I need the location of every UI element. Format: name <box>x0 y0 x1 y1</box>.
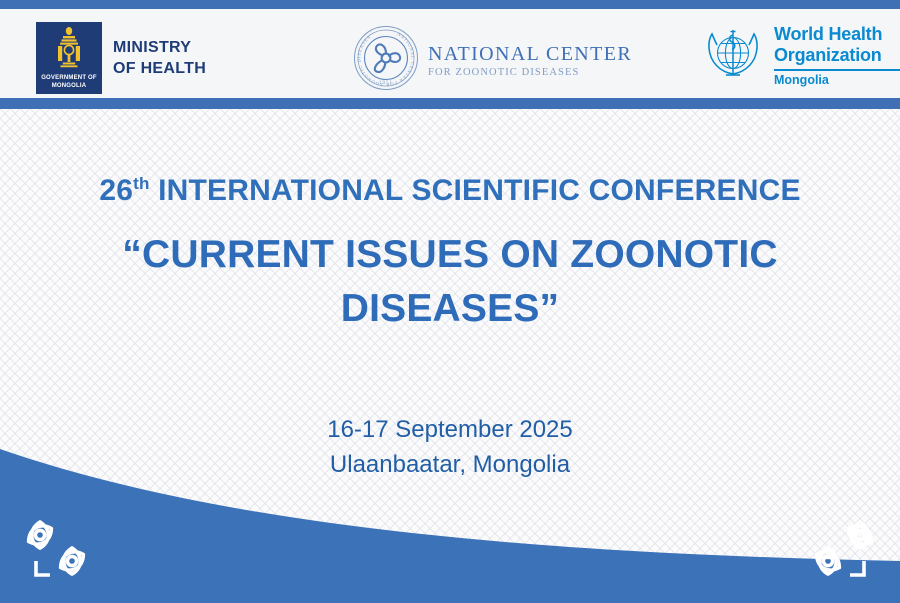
who-country-label: Mongolia <box>774 74 900 87</box>
who-wordmark: World Health Organization Mongolia <box>774 24 900 87</box>
mongolia-state-emblem-icon: GOVERNMENT OF MONGOLIA <box>36 22 102 94</box>
headline-number: 26 <box>99 174 133 207</box>
nczd-wordmark: NATIONAL CENTER FOR ZOONOTIC DISEASES <box>428 38 632 79</box>
conference-edition-headline: 26th INTERNATIONAL SCIENTIFIC CONFERENCE <box>0 174 900 208</box>
who-mongolia-logo: World Health Organization Mongolia <box>700 22 900 88</box>
emblem-caption-line2: MONGOLIA <box>41 82 97 90</box>
ministry-name-line2: OF HEALTH <box>113 58 206 79</box>
ministry-of-health-logo: GOVERNMENT OF MONGOLIA MINISTRY OF HEALT… <box>36 22 206 94</box>
who-name-line1: World Health <box>774 24 900 45</box>
who-name-line2: Organization <box>774 45 900 66</box>
wave-blue-band <box>0 449 900 603</box>
mongolian-knot-ornament-right <box>794 515 886 589</box>
header-divider-bar <box>0 98 900 109</box>
title-line1: “CURRENT ISSUES ON ZOONOTIC <box>60 228 840 282</box>
headline-rest: INTERNATIONAL SCIENTIFIC CONFERENCE <box>150 174 801 207</box>
national-center-zoonotic-diseases-logo: 1951 NATIONAL CENTER FOR ZOONOTIC DISEAS… <box>352 24 632 92</box>
conference-main-title: “CURRENT ISSUES ON ZOONOTIC DISEASES” <box>60 228 840 336</box>
title-line2: DISEASES” <box>60 282 840 336</box>
mongolian-knot-ornament-left <box>14 515 106 589</box>
zoonotic-seal-icon: 1951 NATIONAL CENTER FOR ZOONOTIC DISEAS… <box>352 24 420 92</box>
who-underline-rule <box>774 69 900 71</box>
ministry-of-health-wordmark: MINISTRY OF HEALTH <box>113 37 206 79</box>
conference-title-slide: GOVERNMENT OF MONGOLIA MINISTRY OF HEALT… <box>0 0 900 603</box>
conference-date: 16-17 September 2025 <box>0 412 900 447</box>
ministry-name-line1: MINISTRY <box>113 37 206 58</box>
emblem-caption-line1: GOVERNMENT OF <box>41 74 97 82</box>
bottom-wave-decoration <box>0 443 900 603</box>
headline-ordinal-suffix: th <box>133 174 149 193</box>
nczd-name-line2: FOR ZOONOTIC DISEASES <box>428 68 632 79</box>
who-emblem-icon <box>700 22 766 88</box>
soyombo-emblem-icon <box>49 26 89 74</box>
nczd-name-line1: NATIONAL CENTER <box>428 44 632 64</box>
top-accent-bar <box>0 0 900 9</box>
